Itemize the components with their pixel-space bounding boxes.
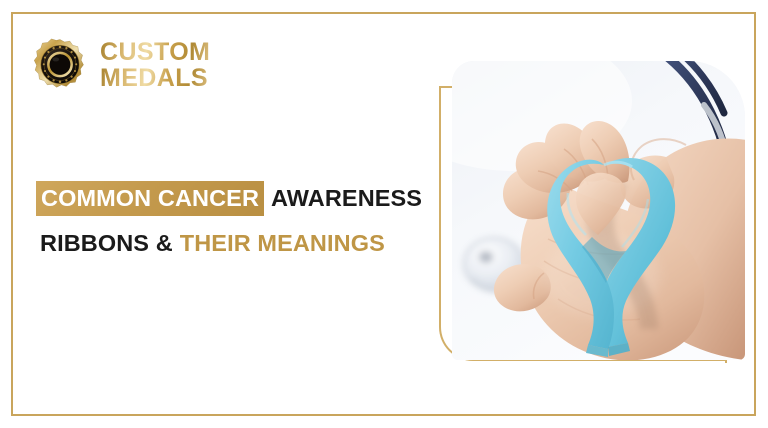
brand-wordmark: CUSTOM MEDALS	[100, 39, 210, 91]
headline-line-2: RIBBONS &THEIR MEANINGS	[40, 231, 440, 257]
brand-name-line2: MEDALS	[100, 66, 210, 92]
headline-line-1: COMMON CANCERAWARENESS	[40, 186, 440, 212]
gold-accent-bracket-top-stub	[439, 86, 452, 88]
headline-line1-rest: AWARENESS	[264, 185, 422, 211]
medal-rosette-icon	[33, 38, 87, 92]
hero-image-area	[430, 50, 760, 380]
headline-line2-dark: RIBBONS &	[40, 230, 173, 256]
brand-name-line1: CUSTOM	[100, 40, 210, 66]
brand-logo[interactable]: CUSTOM MEDALS	[33, 38, 210, 92]
page-title: COMMON CANCERAWARENESS RIBBONS &THEIR ME…	[40, 186, 440, 257]
hero-photo	[452, 61, 745, 360]
headline-line2-gold: THEIR MEANINGS	[173, 230, 385, 256]
headline-highlight: COMMON CANCER	[36, 181, 264, 216]
awareness-banner: CUSTOM MEDALS COMMON CANCERAWARENESS RIB…	[0, 0, 768, 428]
